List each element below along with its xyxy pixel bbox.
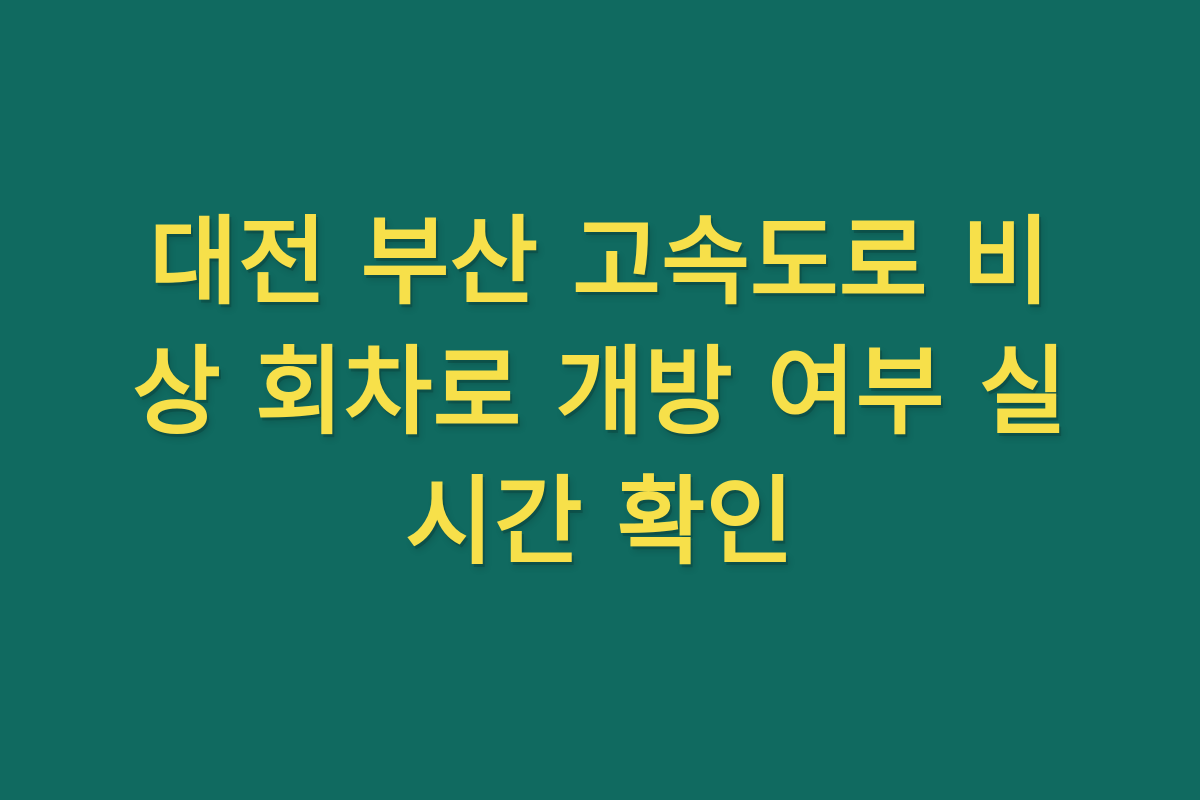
thumbnail-canvas: 대전 부산 고속도로 비 상 회차로 개방 여부 실 시간 확인 [0,0,1200,800]
headline-line-2: 상 회차로 개방 여부 실 [120,327,1080,457]
headline-title: 대전 부산 고속도로 비 상 회차로 개방 여부 실 시간 확인 [120,197,1080,587]
headline-block: 대전 부산 고속도로 비 상 회차로 개방 여부 실 시간 확인 [120,197,1080,603]
headline-line-3: 시간 확인 [120,457,1080,587]
headline-line-1: 대전 부산 고속도로 비 [120,197,1080,327]
